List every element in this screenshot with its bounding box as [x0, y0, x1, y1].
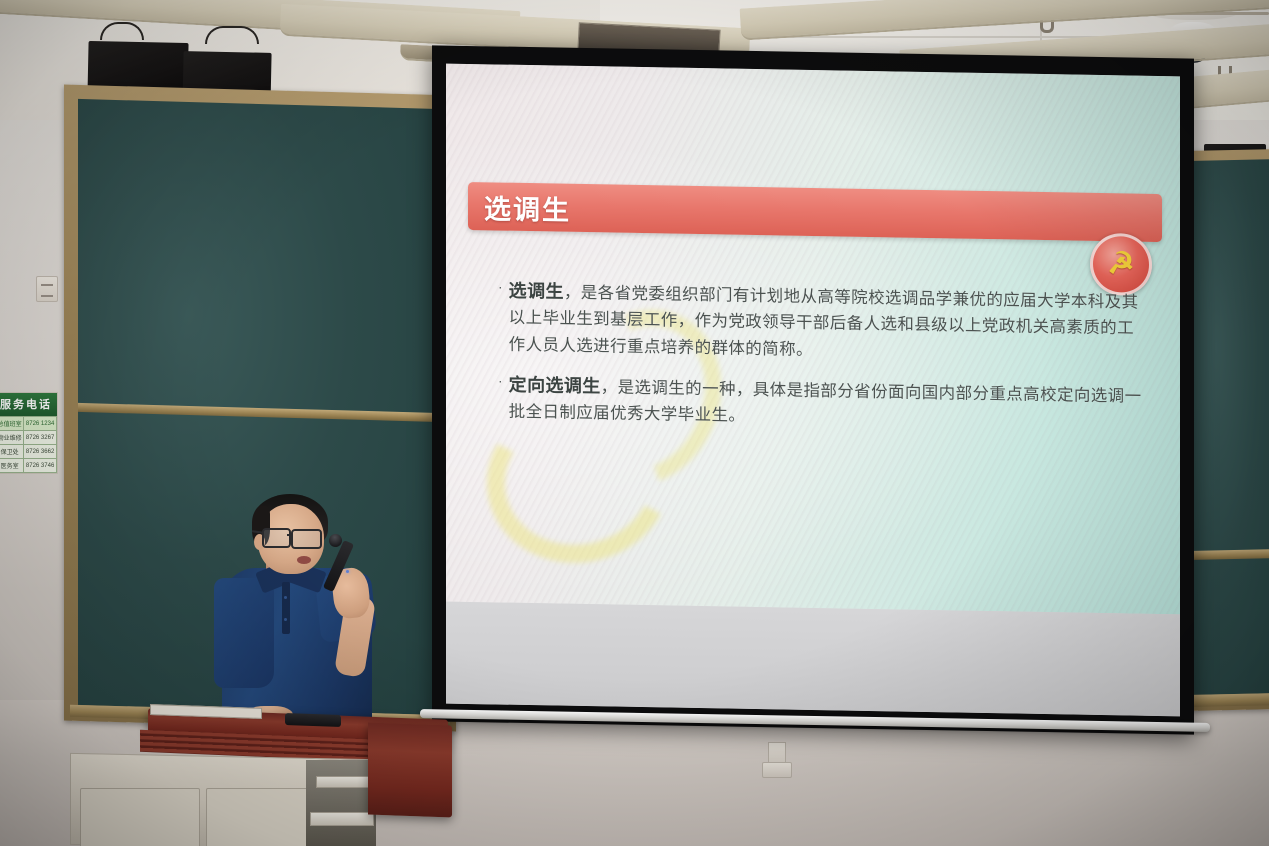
glasses-lens-left [262, 528, 291, 548]
bullet-lead: 选调生 [509, 281, 564, 302]
shirt-button [284, 596, 287, 599]
glasses-bridge [287, 534, 291, 536]
notice-cell: 物业维修 [0, 431, 24, 445]
bullet-text: 选调生，是各省党委组织部门有计划地从高等院校选调品学兼优的应届大学本科及其以上毕… [509, 277, 1146, 369]
notice-cell: 总值班室 [0, 417, 24, 431]
bullet-marker: · [498, 277, 503, 299]
slide-title: 选调生 [468, 186, 571, 227]
notice-row: 总值班室8726 1234 [0, 417, 57, 431]
powerpoint-slide: 选调生 ☭ · 选调生，是各省党委组织部门有计划地从高等院校选调品学兼优的应届大… [446, 64, 1180, 614]
smartphone[interactable] [285, 713, 341, 727]
notice-row: 物业维修8726 3267 [0, 431, 57, 445]
wall-power-outlet[interactable] [36, 276, 58, 302]
podium-drawer-rail [310, 812, 374, 826]
slide-bullet: · 定向选调生，是选调生的一种，具体是指部分省份面向国内部分重点高校定向选调一批… [498, 370, 1146, 436]
bullet-marker: · [498, 370, 503, 392]
slide-title-bar: 选调生 [468, 182, 1162, 242]
wall-bracket-clamp [762, 762, 792, 778]
service-phone-notice-board: 服务电话 总值班室8726 1234 物业维修8726 3267 保卫处8726… [0, 392, 58, 474]
projection-screen: 选调生 ☭ · 选调生，是各省党委组织部门有计划地从高等院校选调品学兼优的应届大… [432, 45, 1194, 734]
screen-blank-area [446, 601, 1180, 716]
presenter-sleeve-left [214, 578, 274, 688]
classroom-photo: 服务电话 总值班室8726 1234 物业维修8726 3267 保卫处8726… [0, 0, 1269, 846]
notice-header: 服务电话 [0, 393, 57, 416]
notice-cell: 8726 1234 [24, 417, 57, 431]
shirt-button [284, 618, 287, 621]
bullet-lead: 定向选调生 [509, 374, 601, 396]
podium-drawer[interactable] [80, 788, 200, 846]
notice-cell: 8726 3662 [24, 445, 57, 459]
podium-equipment-bay [306, 760, 376, 846]
slide-bullet: · 选调生，是各省党委组织部门有计划地从高等院校选调品学兼优的应届大学本科及其以… [498, 277, 1146, 369]
notice-cell: 医务室 [0, 459, 24, 473]
podium-side-panel [368, 723, 452, 818]
notice-row: 医务室8726 3746 [0, 459, 57, 473]
notice-cell: 8726 3746 [24, 459, 57, 473]
notice-row: 保卫处8726 3662 [0, 445, 57, 459]
presenter-mouth [297, 556, 311, 564]
glasses-lens-right [291, 529, 322, 549]
speaker-cable [205, 26, 259, 44]
presenter-placket [282, 582, 290, 634]
microphone-led [346, 570, 349, 573]
podium-drawer-rail [316, 776, 372, 788]
notice-table: 总值班室8726 1234 物业维修8726 3267 保卫处8726 3662… [0, 416, 57, 473]
cpc-emblem-glyph: ☭ [1108, 249, 1135, 279]
bullet-text: 定向选调生，是选调生的一种，具体是指部分省份面向国内部分重点高校定向选调一批全日… [509, 370, 1146, 436]
bullet-body: ，是选调生的一种，具体是指部分省份面向国内部分重点高校定向选调一批全日制应届优秀… [509, 378, 1142, 425]
notice-cell: 保卫处 [0, 445, 24, 459]
bullet-body: ，是各省党委组织部门有计划地从高等院校选调品学兼优的应届大学本科及其以上毕业生到… [509, 284, 1139, 359]
notice-cell: 8726 3267 [24, 431, 57, 445]
